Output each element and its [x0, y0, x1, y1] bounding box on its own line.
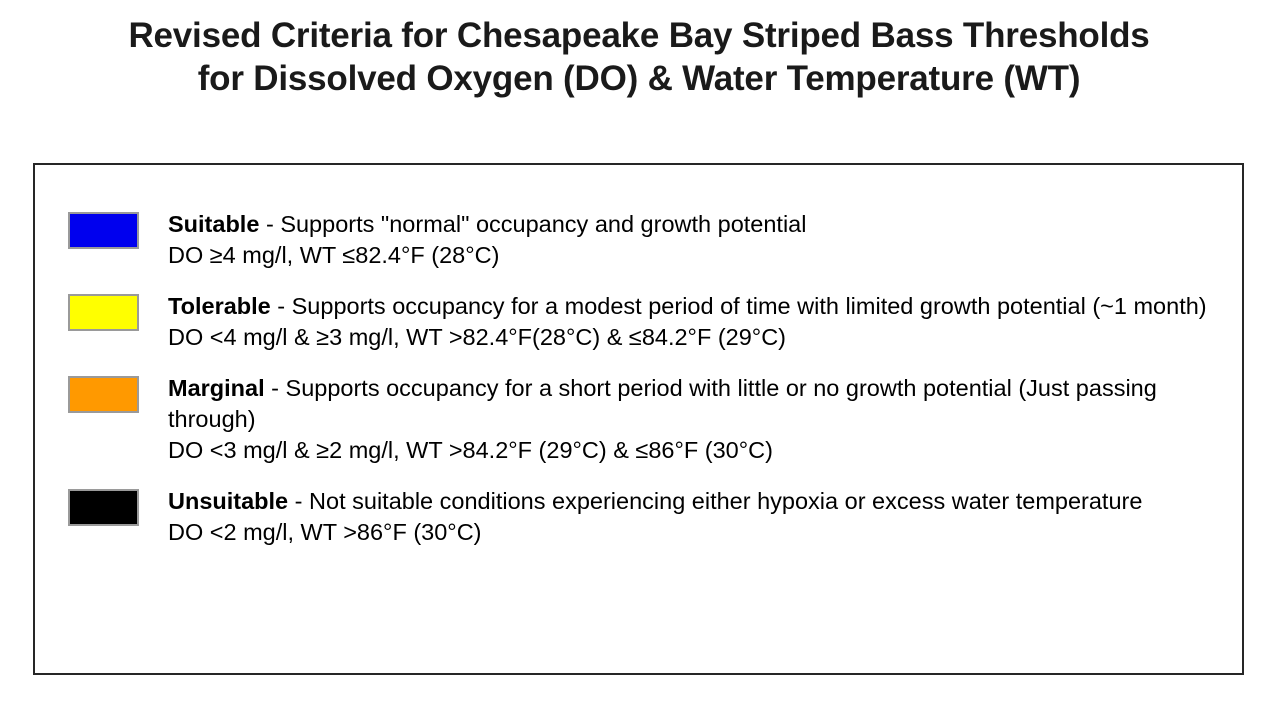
legend-item-suitable: Suitable - Supports "normal" occupancy a…	[35, 209, 1242, 271]
legend-item-separator: -	[288, 488, 309, 514]
legend-item-text: Tolerable - Supports occupancy for a mod…	[168, 291, 1222, 353]
legend-item-description: Unsuitable - Not suitable conditions exp…	[168, 486, 1222, 517]
legend-item-description-text: Supports occupancy for a short period wi…	[168, 375, 1157, 432]
legend-item-term: Tolerable	[168, 293, 271, 319]
legend-item-term: Suitable	[168, 211, 259, 237]
legend-item-text: Marginal - Supports occupancy for a shor…	[168, 373, 1222, 466]
legend-item-criteria: DO <3 mg/l & ≥2 mg/l, WT >84.2°F (29°C) …	[168, 435, 1222, 466]
suitable-swatch	[68, 212, 139, 249]
legend-list: Suitable - Supports "normal" occupancy a…	[35, 165, 1242, 548]
legend-item-separator: -	[265, 375, 286, 401]
legend-item-description-text: Supports "normal" occupancy and growth p…	[280, 211, 806, 237]
legend-item-separator: -	[271, 293, 292, 319]
legend-item-separator: -	[259, 211, 280, 237]
legend-item-tolerable: Tolerable - Supports occupancy for a mod…	[35, 291, 1242, 353]
legend-item-description: Tolerable - Supports occupancy for a mod…	[168, 291, 1222, 322]
legend-item-description: Suitable - Supports "normal" occupancy a…	[168, 209, 1222, 240]
legend-item-criteria: DO <2 mg/l, WT >86°F (30°C)	[168, 517, 1222, 548]
legend-panel: Suitable - Supports "normal" occupancy a…	[33, 163, 1244, 675]
page-title-line-2: for Dissolved Oxygen (DO) & Water Temper…	[33, 57, 1245, 100]
legend-item-text: Unsuitable - Not suitable conditions exp…	[168, 486, 1222, 548]
legend-item-marginal: Marginal - Supports occupancy for a shor…	[35, 373, 1242, 466]
legend-item-unsuitable: Unsuitable - Not suitable conditions exp…	[35, 486, 1242, 548]
page-title: Revised Criteria for Chesapeake Bay Stri…	[33, 14, 1245, 100]
legend-item-description-text: Not suitable conditions experiencing eit…	[309, 488, 1142, 514]
legend-item-term: Marginal	[168, 375, 265, 401]
unsuitable-swatch	[68, 489, 139, 526]
legend-item-text: Suitable - Supports "normal" occupancy a…	[168, 209, 1222, 271]
tolerable-swatch	[68, 294, 139, 331]
legend-item-criteria: DO ≥4 mg/l, WT ≤82.4°F (28°C)	[168, 240, 1222, 271]
legend-item-description: Marginal - Supports occupancy for a shor…	[168, 373, 1222, 435]
legend-item-criteria: DO <4 mg/l & ≥3 mg/l, WT >82.4°F(28°C) &…	[168, 322, 1222, 353]
marginal-swatch	[68, 376, 139, 413]
slide-root: Revised Criteria for Chesapeake Bay Stri…	[0, 0, 1286, 716]
page-title-line-1: Revised Criteria for Chesapeake Bay Stri…	[33, 14, 1245, 57]
legend-item-description-text: Supports occupancy for a modest period o…	[292, 293, 1207, 319]
legend-item-term: Unsuitable	[168, 488, 288, 514]
